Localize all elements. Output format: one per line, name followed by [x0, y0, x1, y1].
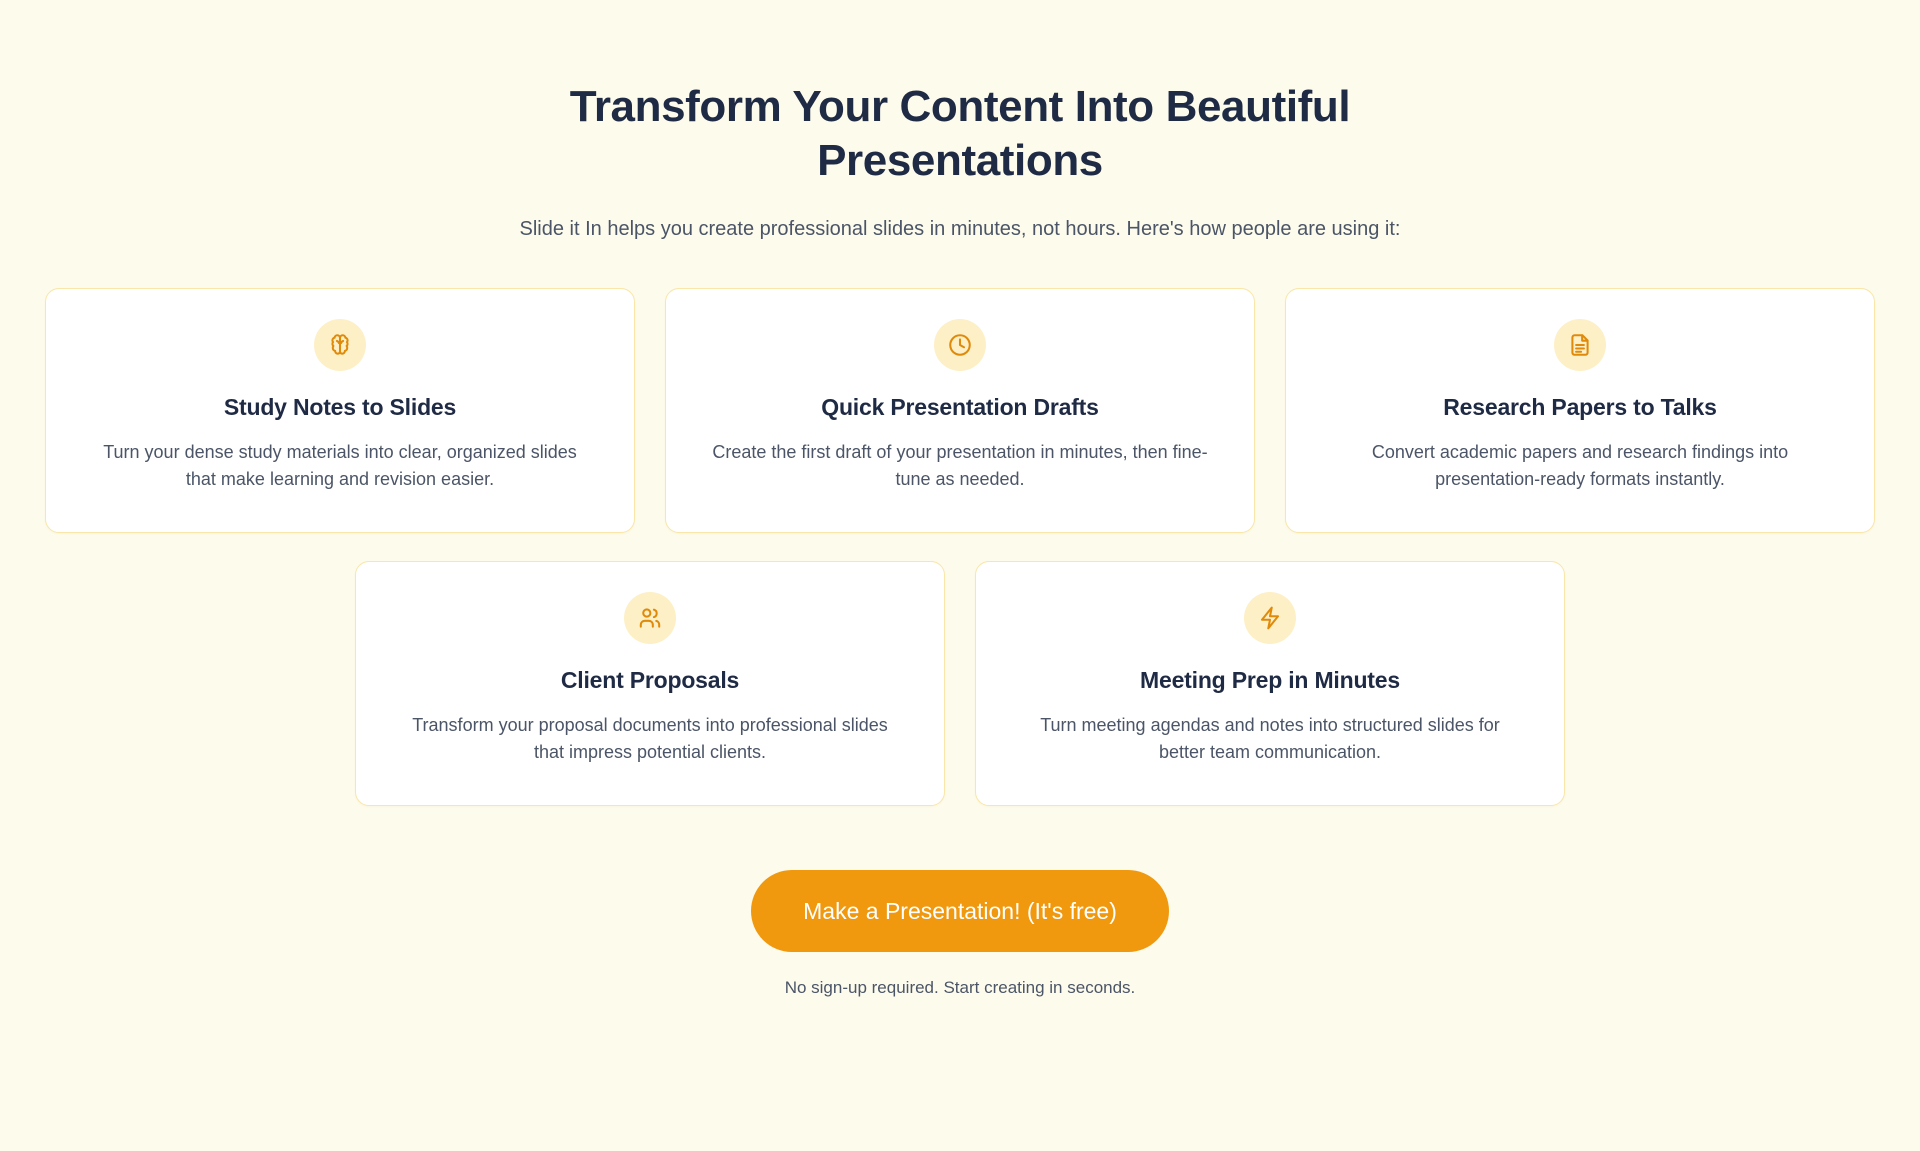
users-icon [624, 592, 676, 644]
landing-page: Transform Your Content Into Beautiful Pr… [0, 0, 1920, 1151]
card-title: Meeting Prep in Minutes [1140, 667, 1400, 694]
card-client-proposals[interactable]: Client Proposals Transform your proposal… [355, 561, 945, 806]
card-description: Transform your proposal documents into p… [396, 712, 904, 765]
brain-icon [314, 319, 366, 371]
card-title: Quick Presentation Drafts [821, 394, 1098, 421]
page-title: Transform Your Content Into Beautiful Pr… [510, 80, 1410, 187]
card-quick-presentation-drafts[interactable]: Quick Presentation Drafts Create the fir… [665, 288, 1255, 533]
file-text-icon [1554, 319, 1606, 371]
cta-region: Make a Presentation! (It's free) No sign… [0, 870, 1920, 998]
card-title: Research Papers to Talks [1443, 394, 1716, 421]
page-header: Transform Your Content Into Beautiful Pr… [0, 0, 1920, 244]
card-description: Turn meeting agendas and notes into stru… [1016, 712, 1524, 765]
card-title: Client Proposals [561, 667, 739, 694]
card-description: Create the first draft of your presentat… [706, 439, 1214, 492]
clock-icon [934, 319, 986, 371]
make-a-presentation-button[interactable]: Make a Presentation! (It's free) [751, 870, 1169, 952]
card-description: Convert academic papers and research fin… [1326, 439, 1834, 492]
card-research-papers-to-talks[interactable]: Research Papers to Talks Convert academi… [1285, 288, 1875, 533]
zap-icon [1244, 592, 1296, 644]
card-meeting-prep-in-minutes[interactable]: Meeting Prep in Minutes Turn meeting age… [975, 561, 1565, 806]
use-case-cards-region: Study Notes to Slides Turn your dense st… [0, 288, 1920, 806]
card-description: Turn your dense study materials into cle… [86, 439, 594, 492]
card-row-bottom: Client Proposals Transform your proposal… [355, 561, 1565, 806]
card-study-notes-to-slides[interactable]: Study Notes to Slides Turn your dense st… [45, 288, 635, 533]
card-row-top: Study Notes to Slides Turn your dense st… [45, 288, 1875, 533]
card-title: Study Notes to Slides [224, 394, 456, 421]
cta-note: No sign-up required. Start creating in s… [785, 978, 1136, 998]
page-subtitle: Slide it In helps you create professiona… [490, 215, 1430, 244]
